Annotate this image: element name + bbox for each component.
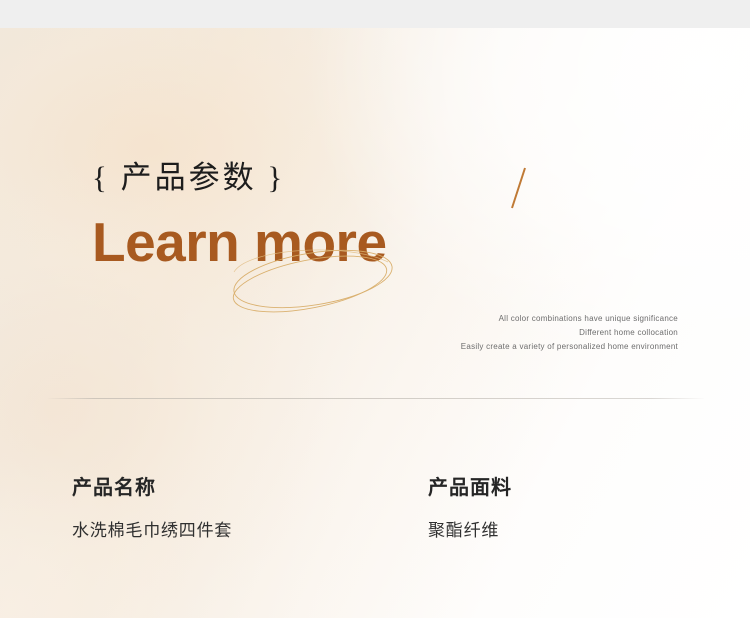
tagline-line-3: Easily create a variety of personalized … [461, 340, 678, 354]
spec-label: 产品名称 [72, 474, 232, 500]
spec-item-product-fabric: 产品面料 聚酯纤维 [428, 474, 512, 543]
slash-mark-icon [505, 166, 533, 210]
spec-label: 产品面料 [428, 474, 512, 500]
bracket-title: { 产品参数 } [92, 158, 512, 198]
spec-list: 产品名称 水洗棉毛巾绣四件套 产品面料 聚酯纤维 [0, 474, 750, 564]
tagline-block: All color combinations have unique signi… [461, 312, 678, 354]
spec-item-product-name: 产品名称 水洗棉毛巾绣四件套 [72, 474, 232, 543]
display-title: Learn more [92, 212, 387, 272]
section-divider [48, 398, 704, 399]
product-parameters-banner: { 产品参数 } Learn more All color combinatio… [0, 0, 750, 618]
spec-value: 聚酯纤维 [428, 519, 512, 543]
headline-block: { 产品参数 } [92, 158, 512, 198]
tagline-line-2: Different home collocation [461, 326, 678, 340]
spec-value: 水洗棉毛巾绣四件套 [72, 519, 232, 543]
tagline-line-1: All color combinations have unique signi… [461, 312, 678, 326]
top-grey-strip [0, 0, 750, 28]
